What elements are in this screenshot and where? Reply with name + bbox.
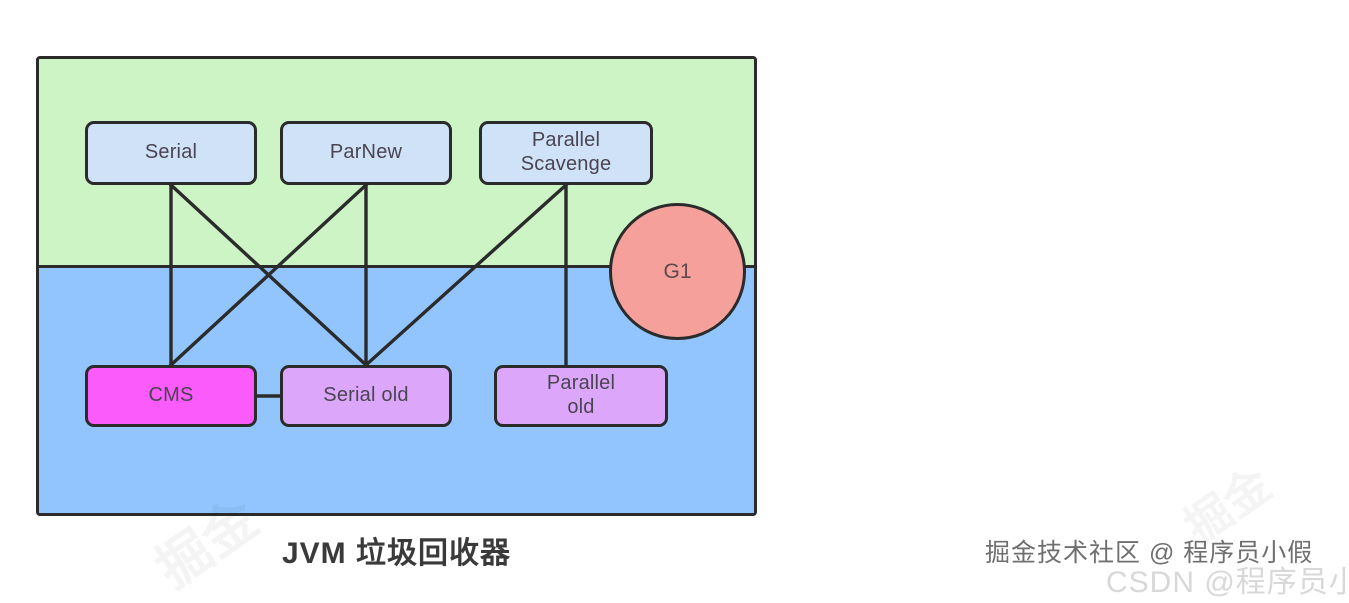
primary-watermark: 掘金技术社区 @ 程序员小假 <box>985 533 1313 569</box>
node-parallel-scavenge-label: Parallel Scavenge <box>521 129 612 176</box>
node-parnew[interactable]: ParNew <box>280 121 452 185</box>
node-parallel-scavenge[interactable]: Parallel Scavenge <box>479 121 653 185</box>
node-cms-label: CMS <box>148 384 193 408</box>
node-parallel-old[interactable]: Parallel old <box>494 365 668 427</box>
node-serial-old-label: Serial old <box>323 384 408 408</box>
node-g1-label: G1 <box>663 260 691 284</box>
node-serial-label: Serial <box>145 141 197 165</box>
diagram-canvas: Serial ParNew Parallel Scavenge CMS Seri… <box>0 0 1349 591</box>
node-parallel-old-label: Parallel old <box>547 372 615 419</box>
node-serial-old[interactable]: Serial old <box>280 365 452 427</box>
node-parnew-label: ParNew <box>330 141 402 165</box>
node-serial[interactable]: Serial <box>85 121 257 185</box>
node-cms[interactable]: CMS <box>85 365 257 427</box>
node-g1[interactable]: G1 <box>609 203 746 340</box>
jvm-collector-frame: Serial ParNew Parallel Scavenge CMS Seri… <box>36 56 757 516</box>
diagram-caption: JVM 垃圾回收器 <box>36 528 757 572</box>
